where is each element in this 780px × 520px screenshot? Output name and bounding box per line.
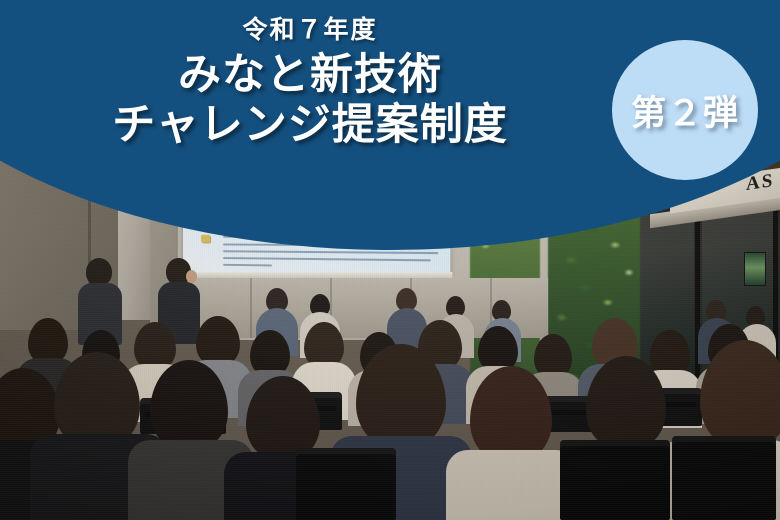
chair-front xyxy=(672,436,776,520)
slide-bullet-icon xyxy=(201,235,210,243)
presenter-hand xyxy=(186,270,197,283)
edition-badge-label: 第２弾 xyxy=(631,85,739,136)
chair-slat xyxy=(302,466,390,474)
edition-badge: 第２弾 xyxy=(612,40,758,180)
title-line-2: チャレンジ提案制度 xyxy=(0,102,620,149)
attendee-head xyxy=(196,316,240,366)
attendee-head xyxy=(134,322,176,370)
chair-slat xyxy=(568,460,662,468)
campaign-banner: AS xyxy=(0,0,780,520)
chair-slat xyxy=(680,456,768,464)
title-line-1: みなと新技術 xyxy=(0,52,620,99)
chair-front xyxy=(560,440,670,520)
presenter-head xyxy=(86,258,112,286)
title-block: 令和７年度 みなと新技術 チャレンジ提案制度 xyxy=(0,14,620,149)
attendee-body-front xyxy=(446,450,578,520)
era-label: 令和７年度 xyxy=(0,14,620,45)
chair-front xyxy=(296,448,396,520)
rear-wall-seam xyxy=(250,278,252,338)
digital-signage-screen xyxy=(744,252,766,286)
